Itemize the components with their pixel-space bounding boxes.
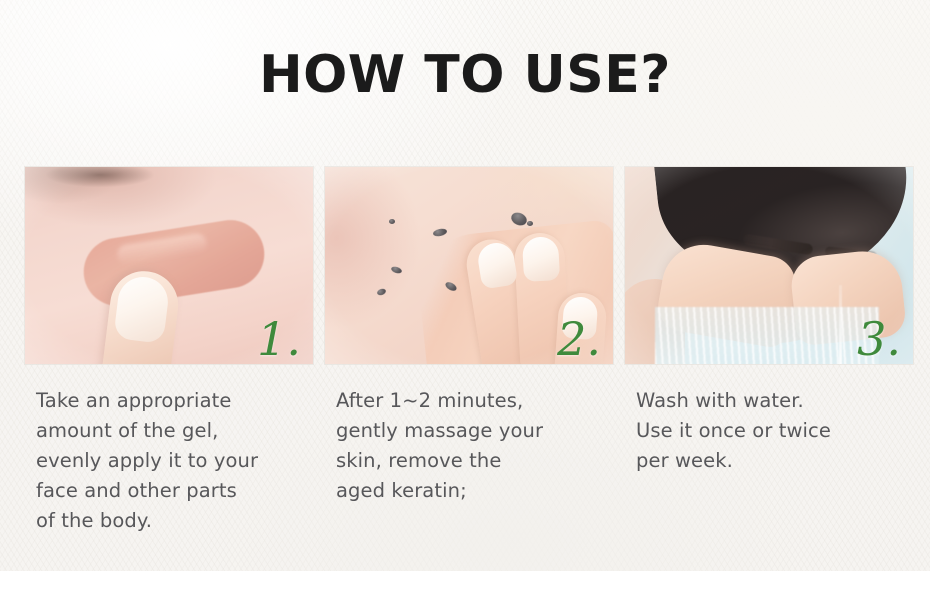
- step-1-photo: 1.: [25, 167, 313, 364]
- how-to-use-banner: HOW TO USE? 1. Take an appropriate amoun…: [0, 0, 930, 616]
- page-title: HOW TO USE?: [0, 44, 930, 106]
- step-2-numeral: 2.: [557, 316, 601, 362]
- step-2-caption: After 1~2 minutes, gently massage your s…: [325, 386, 613, 506]
- step-2: 2. After 1~2 minutes, gently massage you…: [325, 167, 613, 536]
- step-1-caption: Take an appropriate amount of the gel, e…: [25, 386, 313, 536]
- steps-row: 1. Take an appropriate amount of the gel…: [25, 167, 913, 536]
- step-3: 3. Wash with water. Use it once or twice…: [625, 167, 913, 536]
- step-3-numeral: 3.: [857, 316, 901, 362]
- background-bottom-strip: [0, 571, 930, 616]
- step-1: 1. Take an appropriate amount of the gel…: [25, 167, 313, 536]
- step-2-photo: 2.: [325, 167, 613, 364]
- step-3-caption: Wash with water. Use it once or twice pe…: [625, 386, 913, 476]
- step-3-photo: 3.: [625, 167, 913, 364]
- step-1-numeral: 1.: [257, 316, 301, 362]
